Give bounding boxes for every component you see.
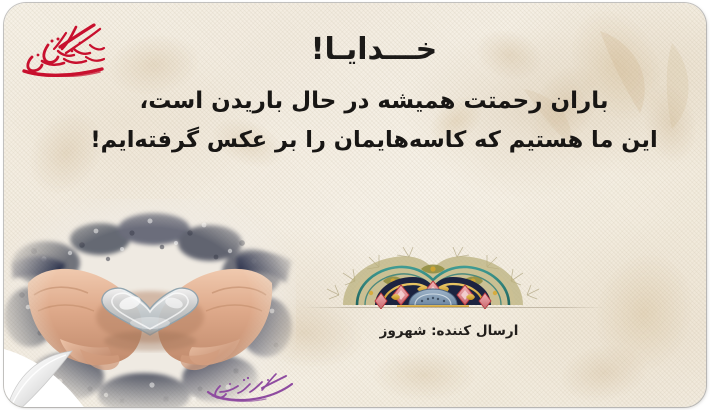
- quote-line-3: این ما هستیم که کاسه‌هایمان را بر عکس گر…: [64, 122, 684, 159]
- ornament-divider-rule: [304, 307, 604, 308]
- quote-title: خـــدایـا!: [64, 31, 684, 69]
- quote-line-2: باران رحمتت همیشه در حال باریدن است،: [64, 83, 684, 121]
- persian-tazhib-medallion: [309, 247, 557, 309]
- quote-block: خـــدایـا! باران رحمتت همیشه در حال باری…: [64, 31, 684, 160]
- artist-signature: علیرضا الو: [200, 366, 300, 406]
- quote-card: سخنان گرانبها: [4, 3, 706, 407]
- sender-attribution: ارسال کننده: شهروز: [334, 323, 564, 339]
